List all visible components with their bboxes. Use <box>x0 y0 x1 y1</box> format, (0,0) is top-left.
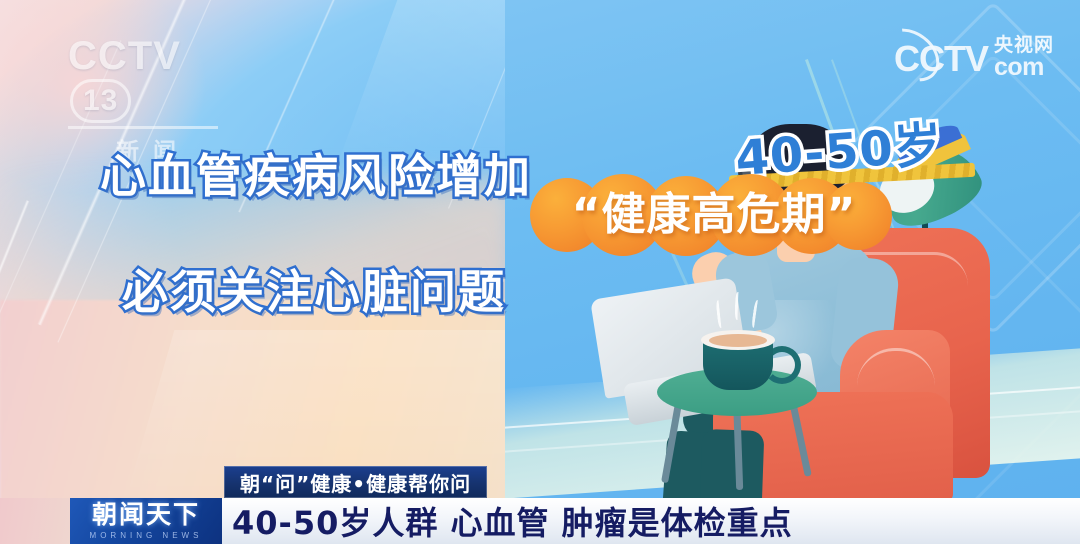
program-logo: 朝闻天下 MORNING NEWS <box>70 498 222 544</box>
segment-title-banner: 朝“问”健康•健康帮你问 <box>224 466 487 498</box>
cctv13-logo: CCTV13 新闻 <box>68 34 238 110</box>
lower-third-left-cap <box>0 498 70 544</box>
cctv-wordmark: CCTV <box>68 34 181 78</box>
headline-container: 40-50岁人群 心血管 肿瘤是体检重点 <box>232 498 793 544</box>
key-message-line-2: 必须关注心脏问题 <box>122 256 506 322</box>
risk-label-callout: “健康高危期” <box>524 172 904 258</box>
key-message-line-1: 心血管疾病风险增加 <box>100 140 532 206</box>
segment-title-text: 朝“问”健康•健康帮你问 <box>240 468 471 497</box>
broadcast-frame: CCTV13 新闻 CCTV 央视网 com 心血管疾病风险增加 必须关注心脏问… <box>0 0 1080 544</box>
cctv-com-watermark: CCTV 央视网 com <box>894 36 1054 80</box>
logo-underline <box>68 126 218 129</box>
risk-label-text: “健康高危期” <box>524 176 904 254</box>
coffee-liquid <box>709 334 767 347</box>
program-name-cn: 朝闻天下 <box>92 502 200 528</box>
person-shin-right <box>700 429 765 500</box>
channel-number: 13 <box>70 79 131 123</box>
cctv-com-domain: com <box>994 55 1054 80</box>
headline-text: 40-50岁人群 心血管 肿瘤是体检重点 <box>232 498 793 544</box>
program-name-en: MORNING NEWS <box>90 531 203 540</box>
